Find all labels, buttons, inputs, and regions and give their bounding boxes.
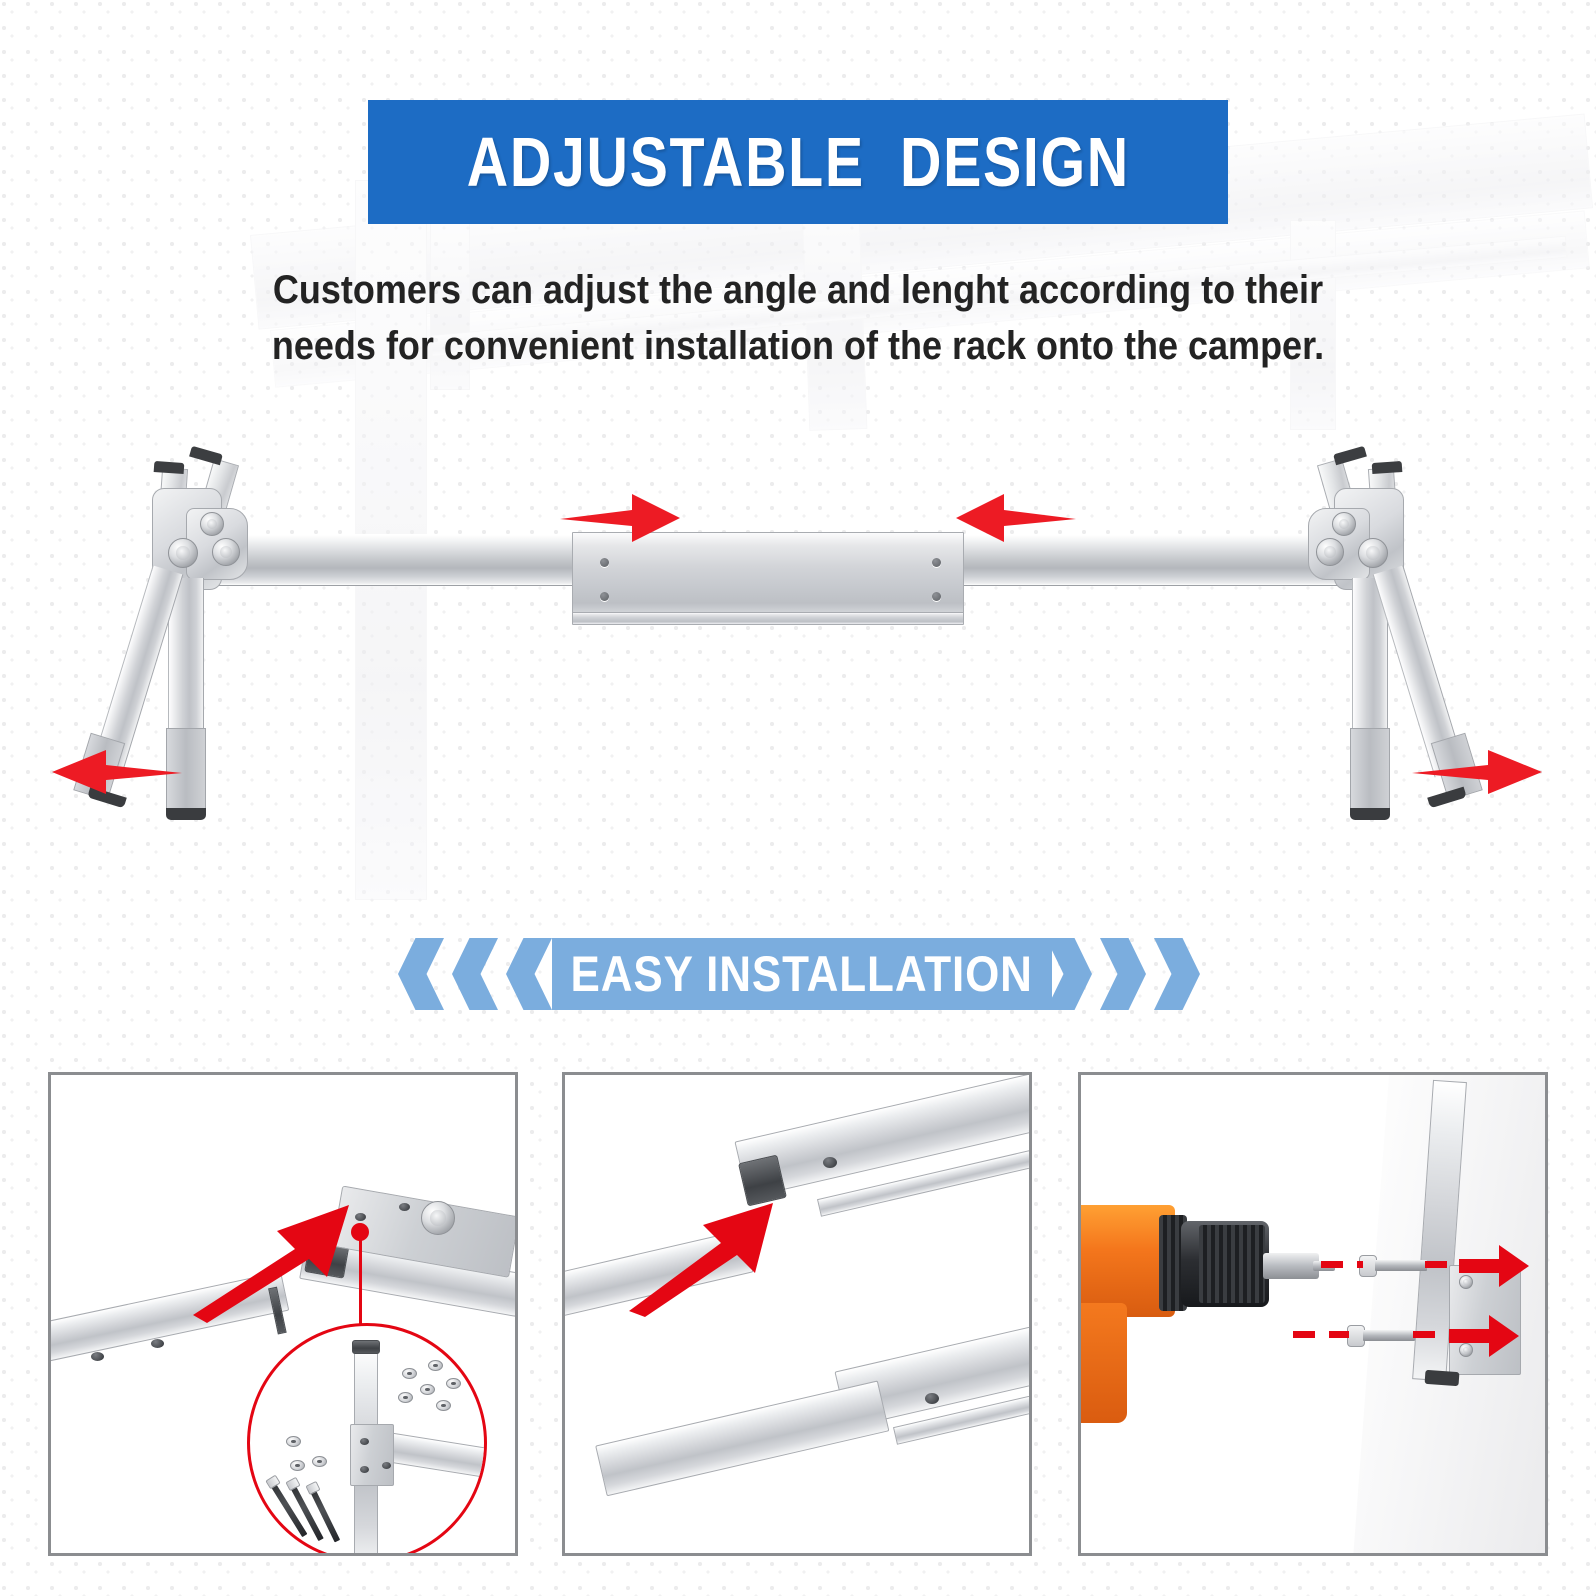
tube-insert-arrow (625, 1201, 775, 1317)
bracket-hole (355, 1213, 366, 1221)
left-pivot-bolt-side (212, 538, 240, 566)
left-pivot-bolt-main (168, 538, 198, 568)
detail-plate-hole (360, 1466, 369, 1473)
plate-hole (932, 592, 941, 601)
mount-arrow-bottom (1449, 1313, 1519, 1359)
washer (398, 1392, 413, 1403)
right-top-stub-cap-a (1372, 461, 1403, 474)
tube-hole (91, 1352, 104, 1361)
joint-center-bolt (421, 1201, 455, 1235)
bolt-head (305, 1481, 320, 1495)
washer (420, 1384, 435, 1395)
drill-chuck-grip (1199, 1225, 1265, 1303)
chevron-right-icon-2 (1100, 938, 1146, 1010)
right-vertical-leg-cap (1350, 728, 1390, 814)
right-pivot-bolt-top (1332, 512, 1356, 536)
callout-detail-circle (247, 1323, 487, 1556)
flying-bolt-shaft-2 (1363, 1330, 1415, 1341)
bolt-path-dashes-2 (1293, 1331, 1349, 1338)
drill-grip (1078, 1303, 1127, 1423)
detail-plate-hole (360, 1438, 369, 1445)
center-slide-plate (572, 532, 964, 624)
panel-drill-mounting (1078, 1072, 1548, 1556)
chevron-right-icon-1 (1046, 938, 1092, 1010)
easy-installation-text: EASY INSTALLATION (571, 945, 1033, 1003)
chevron-right-icon-3 (1154, 938, 1200, 1010)
right-pivot-bolt-main (1358, 538, 1388, 568)
panel-joint-assembly (48, 1072, 518, 1556)
right-pivot-bolt-side (1316, 538, 1344, 566)
crossbar-left (196, 534, 586, 586)
center-right-arrow (956, 492, 1076, 544)
left-vertical-leg-foot (166, 808, 206, 820)
leg-left-arrow (52, 748, 182, 796)
hero-product-image (0, 420, 1596, 920)
title-text: ADJUSTABLE DESIGN (466, 122, 1129, 202)
left-top-stub-cap-a (154, 461, 185, 474)
right-vertical-leg-foot (1350, 808, 1390, 820)
infographic-page: ADJUSTABLE DESIGN Customers can adjust t… (0, 0, 1596, 1596)
callout-leader-line (359, 1235, 362, 1327)
upper-tube-hole (823, 1157, 837, 1168)
center-slide-plate-lip (572, 612, 964, 625)
washer (428, 1360, 443, 1371)
leg-right-arrow (1412, 748, 1542, 796)
mount-arrow-top (1459, 1243, 1529, 1289)
plate-hole (600, 592, 609, 601)
plate-hole (600, 558, 609, 567)
plate-hole (932, 558, 941, 567)
insert-arrow (191, 1203, 351, 1323)
bolt-head (285, 1477, 300, 1491)
left-top-stub-cap-b (189, 446, 223, 465)
lower-male-tube (595, 1380, 889, 1496)
tube-hole (151, 1339, 164, 1348)
chevron-left-icon-2 (452, 938, 498, 1010)
washer (446, 1378, 461, 1389)
flying-bolt-shaft-1 (1375, 1260, 1427, 1271)
panel-tube-insertion (562, 1072, 1032, 1556)
lower-tube-hole (925, 1393, 939, 1404)
drill-bit-holder (1263, 1253, 1319, 1279)
title-banner: ADJUSTABLE DESIGN (368, 100, 1228, 224)
left-pivot-bolt-top (200, 512, 224, 536)
rail-end-cap (1425, 1370, 1460, 1386)
washer (286, 1436, 301, 1447)
chevron-left-icon-3 (506, 938, 552, 1010)
bracket-hole (399, 1203, 410, 1211)
detail-post-cap (352, 1340, 380, 1354)
subtitle-text: Customers can adjust the angle and lengh… (258, 262, 1338, 374)
center-left-arrow (560, 492, 680, 544)
chevron-left-icon-1 (398, 938, 444, 1010)
washer (402, 1368, 417, 1379)
detail-plate-hole (382, 1462, 391, 1469)
detail-joint-plate (350, 1424, 394, 1486)
right-top-stub-cap-b (1333, 446, 1367, 465)
washer (312, 1456, 327, 1467)
washer (436, 1400, 451, 1411)
bolt-path-dashes-1 (1321, 1261, 1363, 1268)
washer (290, 1460, 305, 1471)
easy-installation-banner: EASY INSTALLATION (552, 938, 1052, 1010)
